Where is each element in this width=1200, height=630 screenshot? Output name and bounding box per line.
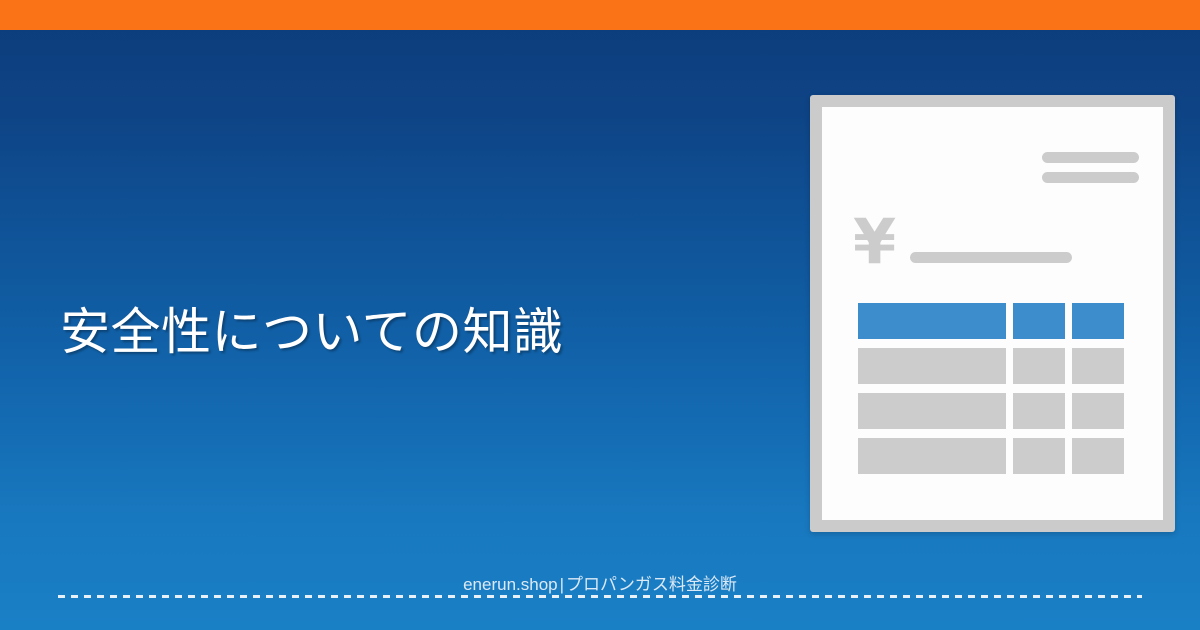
table-cell [1072, 348, 1124, 384]
table-cell [1013, 438, 1065, 474]
table-cell [1072, 303, 1124, 339]
page-title: 安全性についての知識 [60, 302, 700, 363]
slide-canvas: 安全性についての知識 ¥ [0, 0, 1200, 630]
table-cell [858, 348, 1006, 384]
table-row [858, 438, 1130, 474]
table-row [858, 393, 1130, 429]
table-cell [1072, 438, 1124, 474]
footer-dashed-rule [58, 595, 1142, 598]
table-cell [1013, 393, 1065, 429]
top-accent-bar [0, 0, 1200, 30]
document-table [858, 303, 1130, 474]
footer-credit: enerun.shop|プロパンガス料金診断 [0, 573, 1200, 597]
footer-site-name: enerun.shop [463, 575, 558, 594]
gas-bill-document-illustration: ¥ [810, 95, 1175, 532]
document-header-line-1-icon [1042, 152, 1139, 163]
table-cell [1013, 303, 1065, 339]
footer-separator: | [558, 575, 566, 594]
table-cell [1072, 393, 1124, 429]
table-row [858, 303, 1130, 339]
table-cell [1013, 348, 1065, 384]
document-amount-placeholder-icon [910, 252, 1072, 263]
table-row [858, 348, 1130, 384]
document-header-line-2-icon [1042, 172, 1139, 183]
table-cell [858, 393, 1006, 429]
yen-currency-icon: ¥ [853, 211, 896, 273]
table-cell [858, 303, 1006, 339]
footer-tagline: プロパンガス料金診断 [566, 575, 737, 594]
table-cell [858, 438, 1006, 474]
document-page: ¥ [822, 107, 1163, 520]
